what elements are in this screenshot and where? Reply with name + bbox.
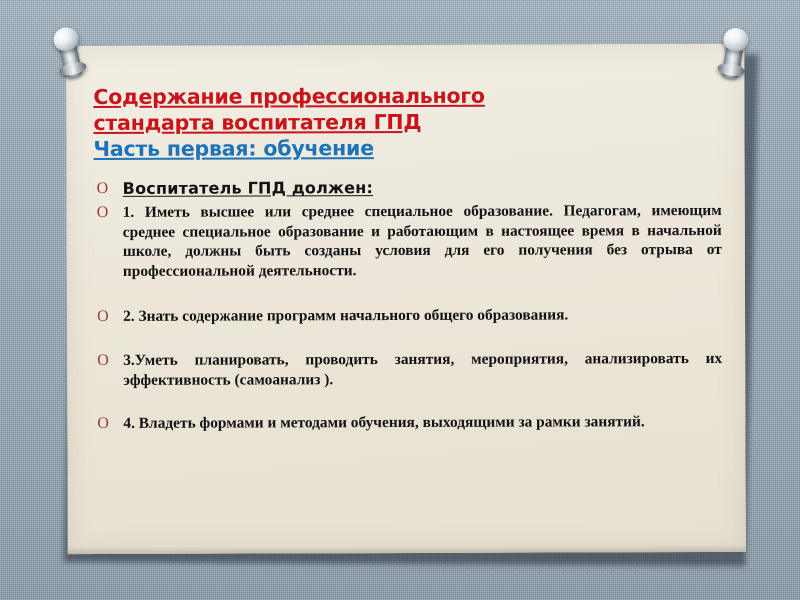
bullet-marker-icon: O (97, 307, 109, 327)
paper-sheet: Содержание профессионального стандарта в… (66, 44, 746, 554)
bullet-marker-icon: O (97, 203, 109, 223)
list-item-text: 4. Владеть формами и методами обучения, … (123, 413, 644, 432)
title-line-1: Содержание профессионального (93, 82, 721, 110)
slide-content: Содержание профессионального стандарта в… (93, 82, 722, 434)
pushpin-left-icon (42, 21, 98, 87)
slide-stage: Содержание профессионального стандарта в… (0, 0, 800, 600)
list-item-4: O 4. Владеть формами и методами обучения… (94, 412, 722, 434)
title-line-2: стандарта воспитателя ГПД (93, 108, 721, 136)
list-item-2: O 2. Знать содержание программ начальног… (94, 305, 722, 327)
list-item-text: 1. Иметь высшее или среднее специальное … (123, 202, 722, 280)
list-item-heading: O Воспитатель ГПД должен: (94, 176, 722, 199)
pushpin-right-icon (708, 23, 761, 87)
list-item-3: O 3.Уметь планировать, проводить занятия… (94, 349, 722, 390)
list-item-1: O 1. Иметь высшее или среднее специально… (94, 201, 722, 281)
list-item-text: Воспитатель ГПД должен: (123, 178, 373, 198)
bullet-marker-icon: O (97, 351, 109, 371)
list-item-text: 2. Знать содержание программ начального … (123, 307, 568, 325)
bullet-list: O Воспитатель ГПД должен: O 1. Иметь выс… (94, 176, 723, 434)
bullet-marker-icon: O (97, 414, 109, 434)
title-line-3: Часть первая: обучение (93, 134, 721, 162)
slide-title: Содержание профессионального стандарта в… (93, 82, 721, 162)
list-item-text: 3.Уметь планировать, проводить занятия, … (123, 350, 722, 388)
pushpin-collar (717, 62, 746, 78)
bullet-marker-icon: O (97, 179, 109, 199)
